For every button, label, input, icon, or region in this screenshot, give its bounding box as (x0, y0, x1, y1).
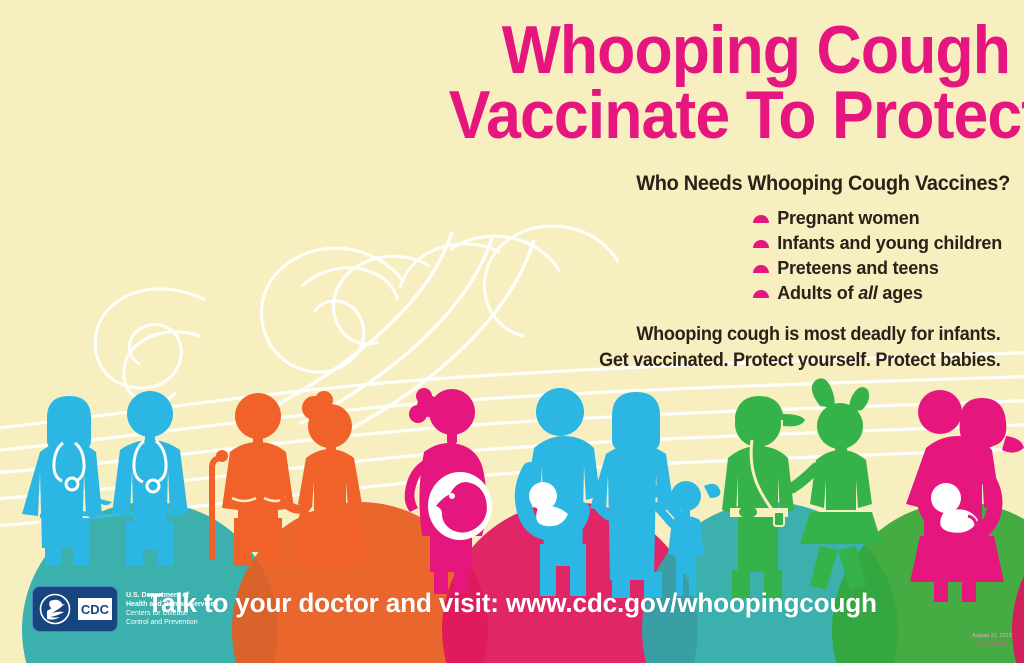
cdc-agency-text: U.S. Department of Health and Human Serv… (126, 591, 218, 628)
figure-older-woman (284, 391, 370, 570)
list-item: Preteens and teens (753, 258, 1002, 279)
publication-code: CS260907-A (972, 641, 1012, 650)
cdc-logo-lockup: CDC U.S. Department of Health and Human … (32, 586, 218, 632)
svg-text:CDC: CDC (81, 602, 110, 617)
dome-bullet-icon (753, 265, 769, 273)
agency-line-2: Health and Human Services (126, 600, 218, 609)
list-item: Adults of all ages (753, 283, 1002, 304)
cdc-badge: CDC (32, 586, 118, 632)
list-item: Infants and young children (753, 233, 1002, 254)
list-item: Pregnant women (753, 208, 1002, 229)
cdc-wordmark-icon: CDC (78, 598, 112, 620)
agency-line-3: Centers for Disease (126, 609, 218, 618)
dome-bullet-icon (753, 240, 769, 248)
dome-bullet-icon (753, 215, 769, 223)
audience-bullet-list: Pregnant women Infants and young childre… (753, 208, 1002, 308)
bullet-label-after: ages (878, 283, 923, 303)
bullet-label: Infants and young children (777, 233, 1002, 253)
publication-date: August 31, 2015 (972, 632, 1012, 641)
headline-line-2: Vaccinate To Protect (449, 83, 1010, 148)
group-family (523, 388, 720, 598)
bullet-label: Pregnant women (777, 208, 919, 228)
poster-canvas: Whooping Cough Vaccinate To Protect Who … (0, 0, 1024, 663)
hhs-seal-icon (38, 591, 76, 627)
agency-line-1: U.S. Department of (126, 591, 218, 600)
bullet-label: Adults of (777, 283, 858, 303)
publication-stamp: August 31, 2015 CS260907-A (972, 632, 1012, 651)
bullet-label: Preteens and teens (777, 258, 938, 278)
dome-bullet-icon (753, 290, 769, 298)
bullet-emphasis: all (858, 283, 877, 303)
headline-line-1: Whooping Cough (449, 18, 1010, 83)
headline-block: Whooping Cough Vaccinate To Protect (400, 18, 1010, 147)
agency-line-4: Control and Prevention (126, 618, 218, 627)
subheading: Who Needs Whooping Cough Vaccines? (459, 172, 1010, 196)
